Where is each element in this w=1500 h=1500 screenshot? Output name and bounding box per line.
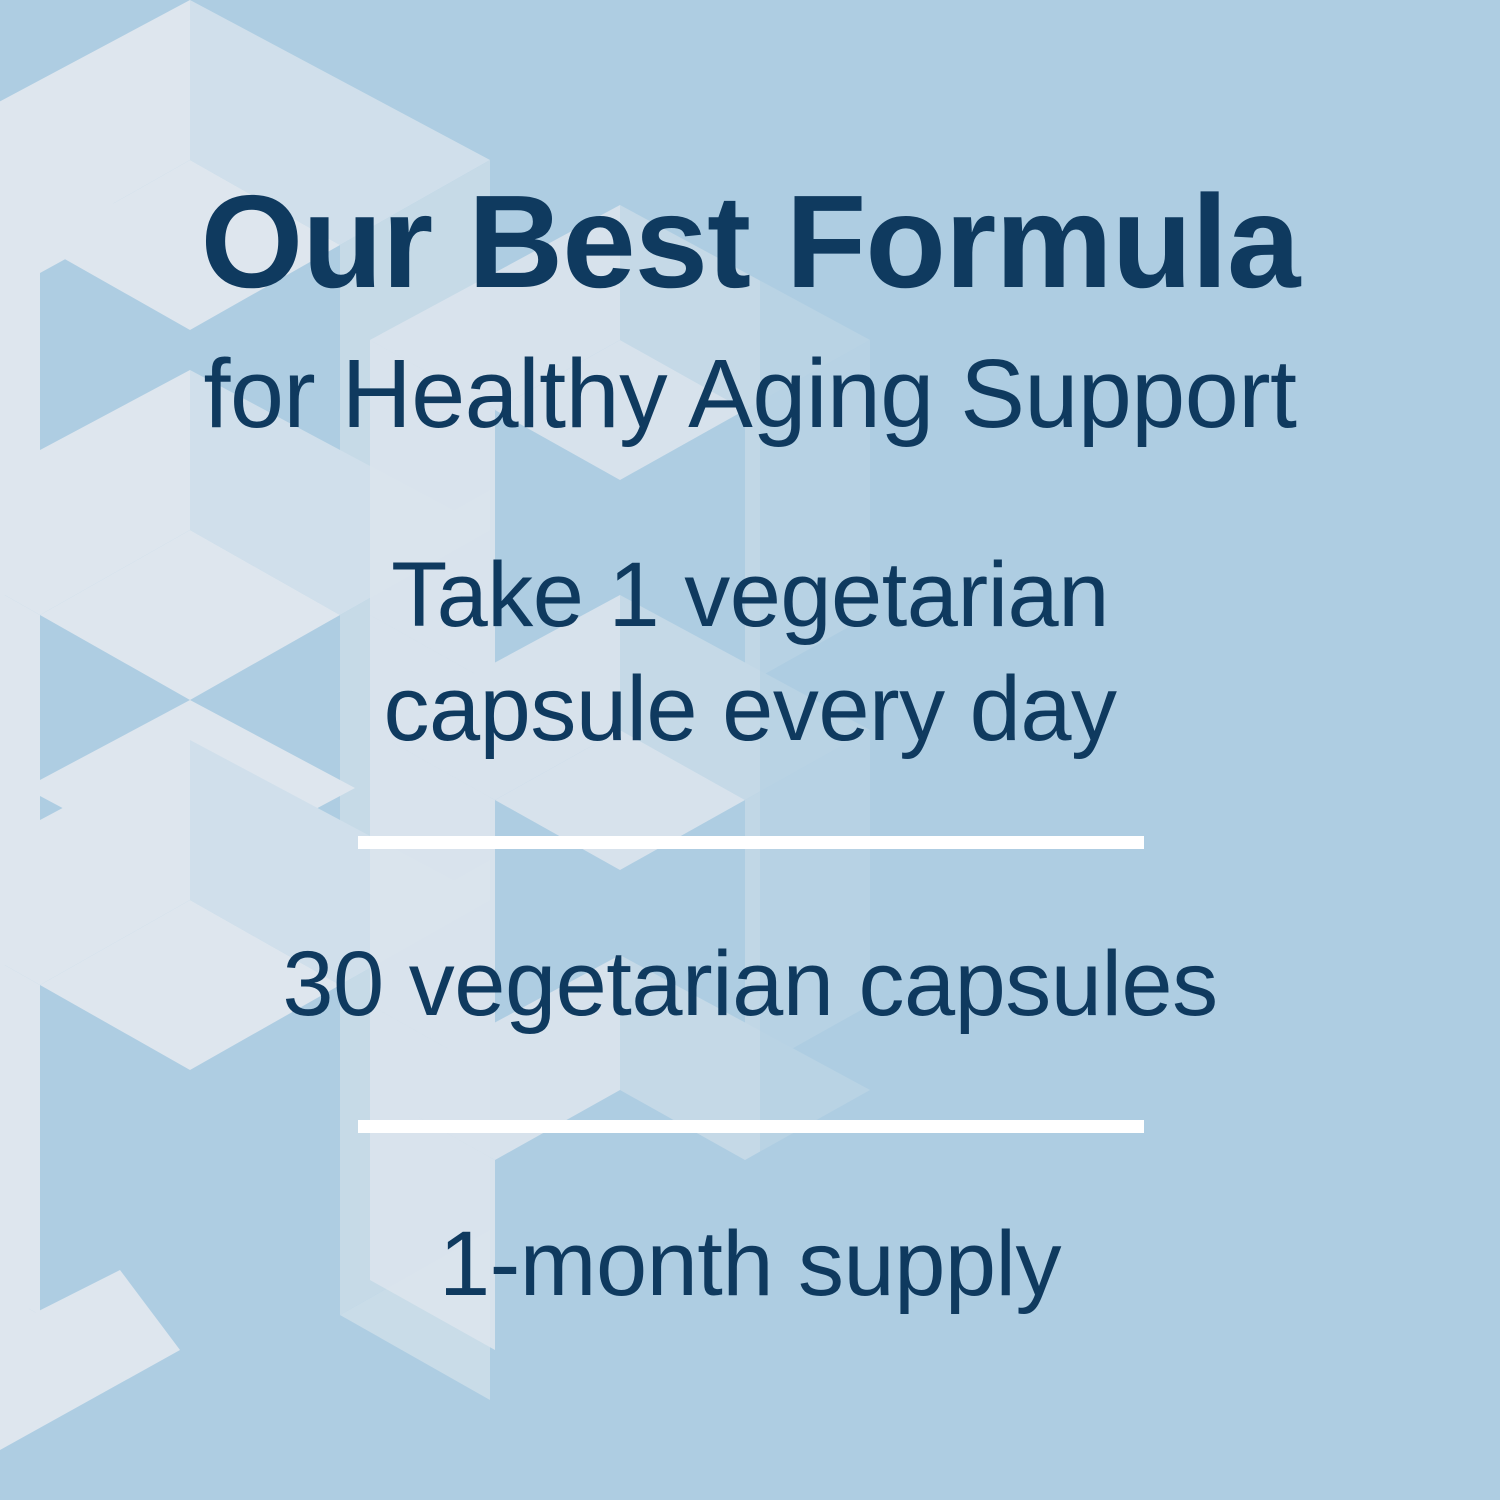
product-info-graphic: Our Best Formula for Healthy Aging Suppo… — [0, 0, 1500, 1500]
dosage-line-2: capsule every day — [0, 652, 1500, 766]
dosage-instructions: Take 1 vegetarian capsule every day — [0, 538, 1500, 766]
divider-below-count — [358, 1120, 1144, 1133]
content-layer: Our Best Formula for Healthy Aging Suppo… — [0, 0, 1500, 1500]
supply-duration-label: 1-month supply — [0, 1214, 1500, 1314]
dosage-line-1: Take 1 vegetarian — [0, 538, 1500, 652]
page-subtitle: for Healthy Aging Support — [0, 344, 1500, 444]
capsule-count-label: 30 vegetarian capsules — [0, 934, 1500, 1034]
divider-above-count — [358, 836, 1144, 849]
page-title: Our Best Formula — [0, 176, 1500, 308]
